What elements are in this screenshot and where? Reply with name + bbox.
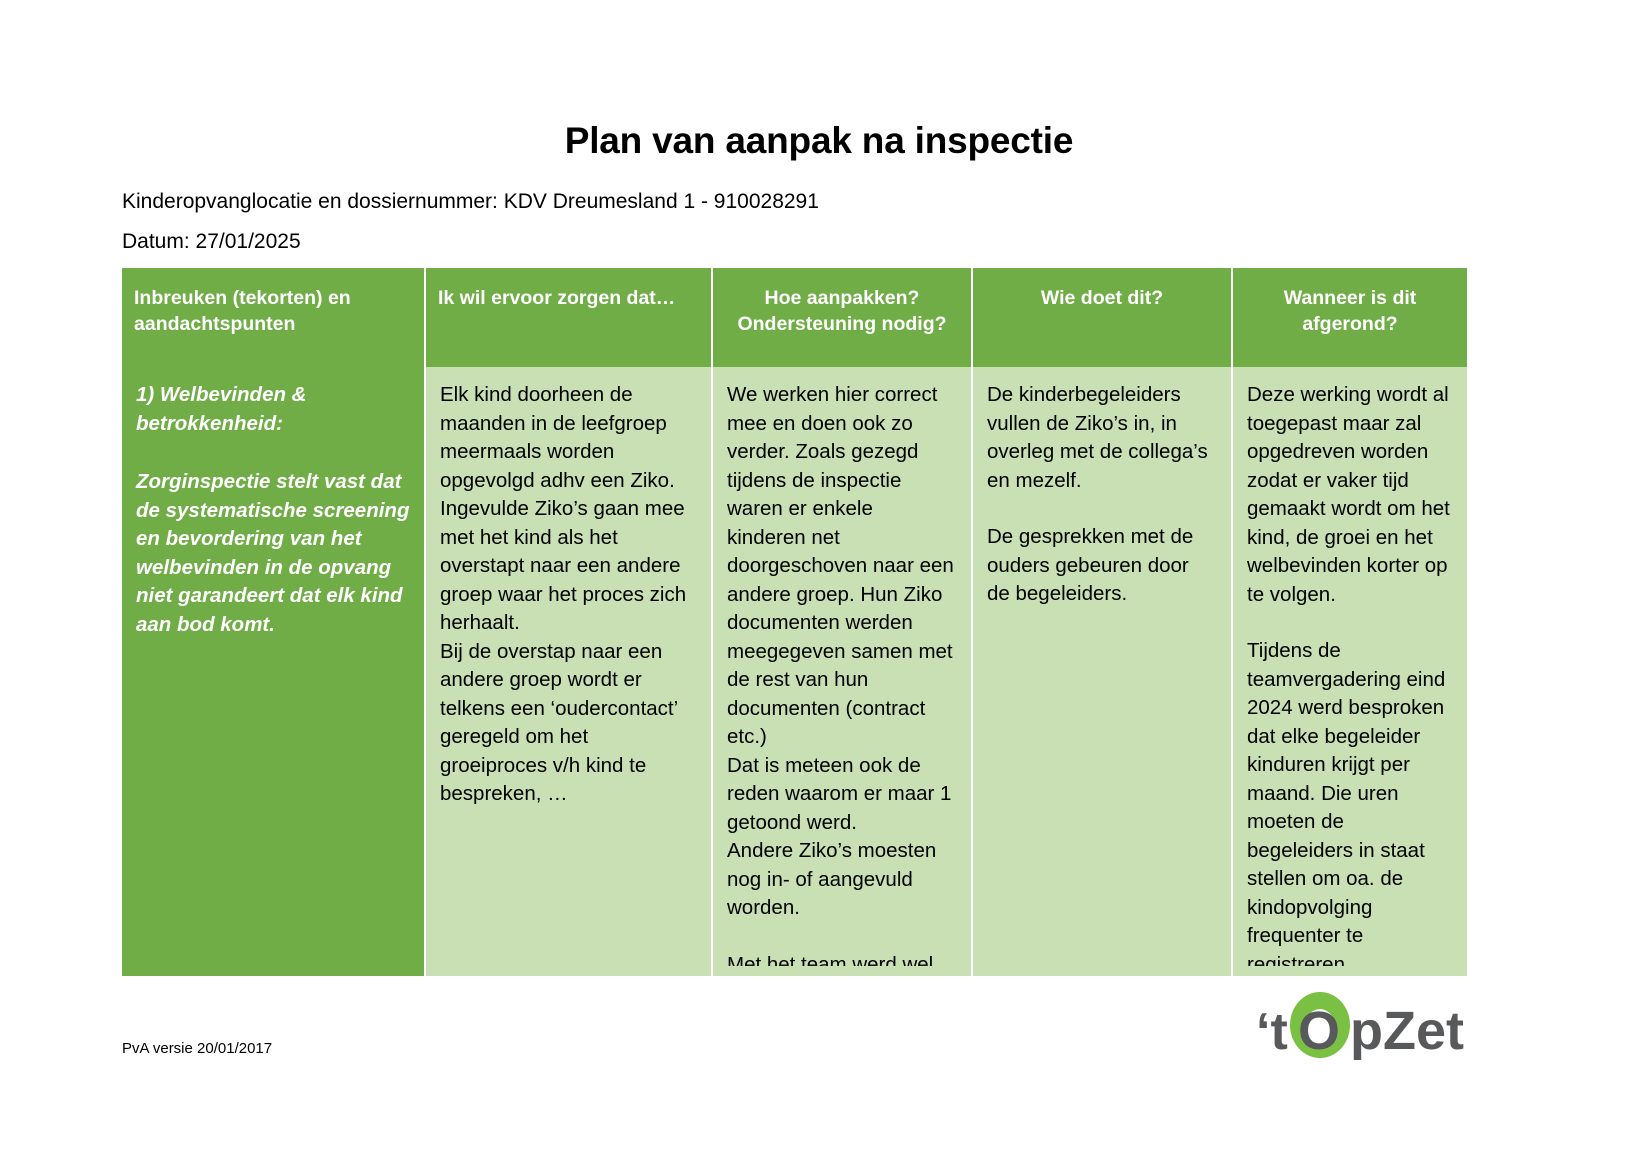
column-header-goal: Ik wil ervoor zorgen dat…	[425, 268, 712, 367]
paragraph-spacer	[1247, 609, 1453, 637]
approach-paragraph: We werken hier correct mee en doen ook z…	[727, 381, 957, 751]
paragraph-spacer	[987, 495, 1217, 523]
approach-paragraph: Andere Ziko’s moesten nog in- of aangevu…	[727, 837, 957, 922]
table-row: 1) Welbevinden & betrokkenheid: Zorginsp…	[122, 367, 1467, 976]
deadline-paragraph: Tijdens de teamvergadering eind 2024 wer…	[1247, 637, 1453, 966]
deadline-paragraph: Deze werking wordt al toegepast maar zal…	[1247, 381, 1453, 609]
cell-goal: Elk kind doorheen de maanden in de leefg…	[425, 367, 712, 976]
cell-issue: 1) Welbevinden & betrokkenheid: Zorginsp…	[122, 367, 425, 976]
paragraph-spacer	[727, 923, 957, 951]
column-header-responsible: Wie doet dit?	[972, 268, 1232, 367]
cell-responsible: De kinderbegeleiders vullen de Ziko’s in…	[972, 367, 1232, 976]
responsible-paragraph: De gesprekken met de ouders gebeuren doo…	[987, 523, 1217, 608]
issue-heading: 1) Welbevinden & betrokkenheid:	[136, 381, 410, 438]
date-line: Datum: 27/01/2025	[122, 230, 301, 254]
location-and-dossier-line: Kinderopvanglocatie en dossiernummer: KD…	[122, 190, 819, 214]
approach-paragraph: Met het team werd wel besproken om op	[727, 951, 957, 967]
cell-deadline: Deze werking wordt al toegepast maar zal…	[1232, 367, 1467, 976]
topzet-logo-icon: ‘t O pZet	[1254, 992, 1470, 1062]
cell-approach: We werken hier correct mee en doen ook z…	[712, 367, 972, 976]
svg-text:O: O	[1298, 1001, 1340, 1061]
column-header-deadline: Wanneer is dit afgerond?	[1232, 268, 1467, 367]
approach-paragraph: Dat is meteen ook de reden waarom er maa…	[727, 752, 957, 837]
document-page: Plan van aanpak na inspectie Kinderopvan…	[0, 0, 1638, 1170]
svg-text:‘t: ‘t	[1256, 1003, 1288, 1061]
svg-text:pZet: pZet	[1350, 1001, 1464, 1061]
footer-version-note: PvA versie 20/01/2017	[122, 1040, 272, 1057]
responsible-paragraph: De kinderbegeleiders vullen de Ziko’s in…	[987, 381, 1217, 495]
topzet-logo: ‘t O pZet	[1254, 992, 1470, 1062]
column-header-approach: Hoe aanpakken? Ondersteuning nodig?	[712, 268, 972, 367]
column-header-issues: Inbreuken (tekorten) en aandachtspunten	[122, 268, 425, 367]
page-title: Plan van aanpak na inspectie	[0, 120, 1638, 162]
table-header-row: Inbreuken (tekorten) en aandachtspunten …	[122, 268, 1467, 367]
action-plan-table: Inbreuken (tekorten) en aandachtspunten …	[122, 268, 1467, 976]
goal-paragraph: Elk kind doorheen de maanden in de leefg…	[440, 381, 697, 637]
issue-description: Zorginspectie stelt vast dat de systemat…	[136, 468, 410, 639]
goal-paragraph: Bij de overstap naar een andere groep wo…	[440, 638, 697, 809]
